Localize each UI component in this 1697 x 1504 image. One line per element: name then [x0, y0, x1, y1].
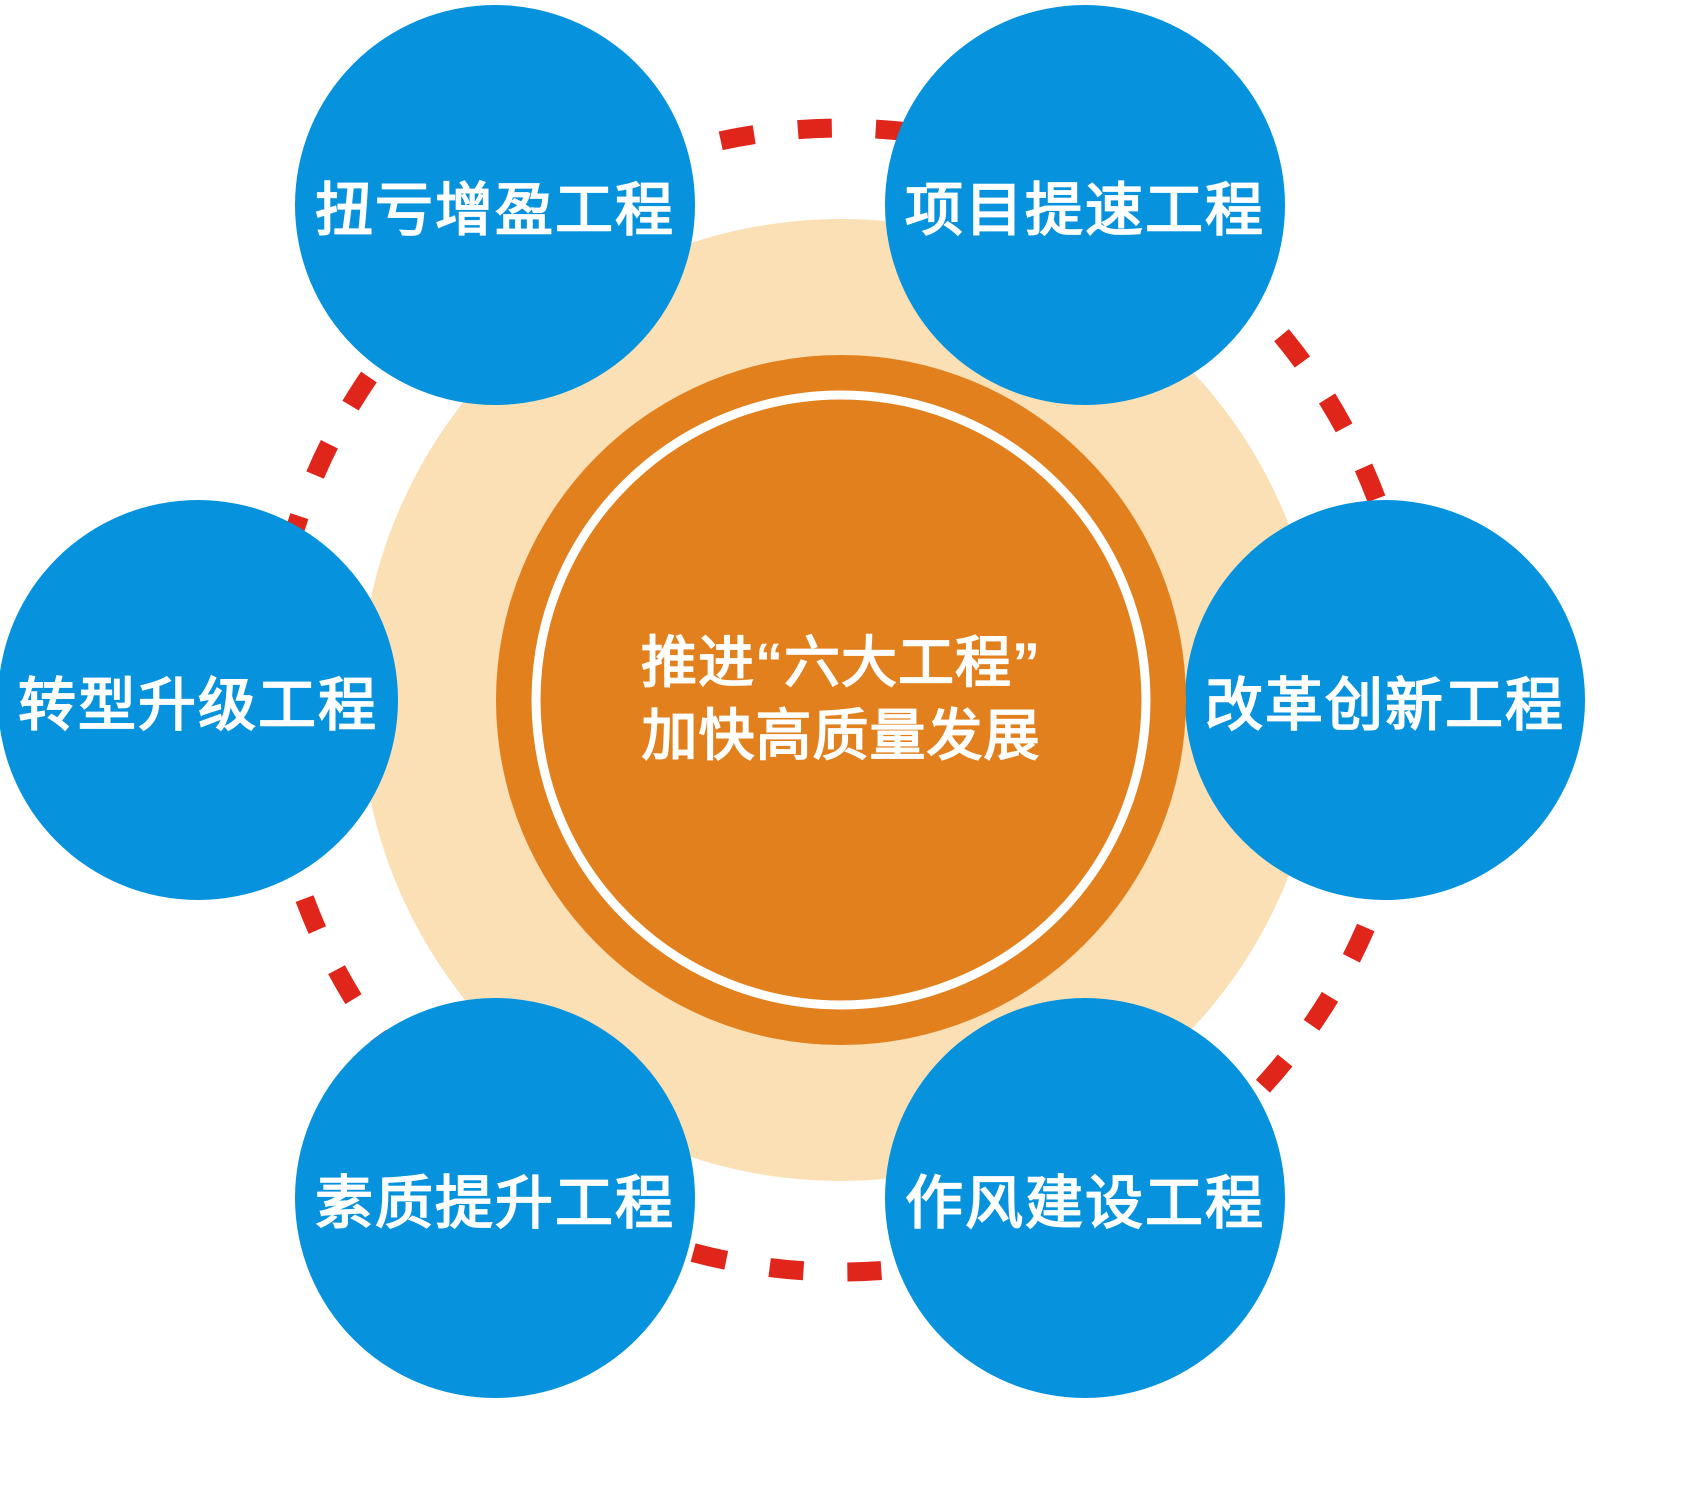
- hub-label: 推进“六大工程” 加快高质量发展: [641, 627, 1041, 773]
- node-circle-middle-right[interactable]: [1185, 500, 1585, 900]
- hub-label-line-2: 加快高质量发展: [641, 700, 1041, 773]
- node-circle-bottom-right[interactable]: [885, 998, 1285, 1398]
- node-circle-bottom-left[interactable]: [295, 998, 695, 1398]
- node-circle-top-left[interactable]: [295, 5, 695, 405]
- node-circle-middle-left[interactable]: [0, 500, 398, 900]
- hub-label-line-1: 推进“六大工程”: [641, 627, 1041, 700]
- node-circle-top-right[interactable]: [885, 5, 1285, 405]
- infographic-canvas: 推进“六大工程” 加快高质量发展 扭亏增盈工程 项目提速工程 改革创新工程 作风…: [0, 0, 1697, 1504]
